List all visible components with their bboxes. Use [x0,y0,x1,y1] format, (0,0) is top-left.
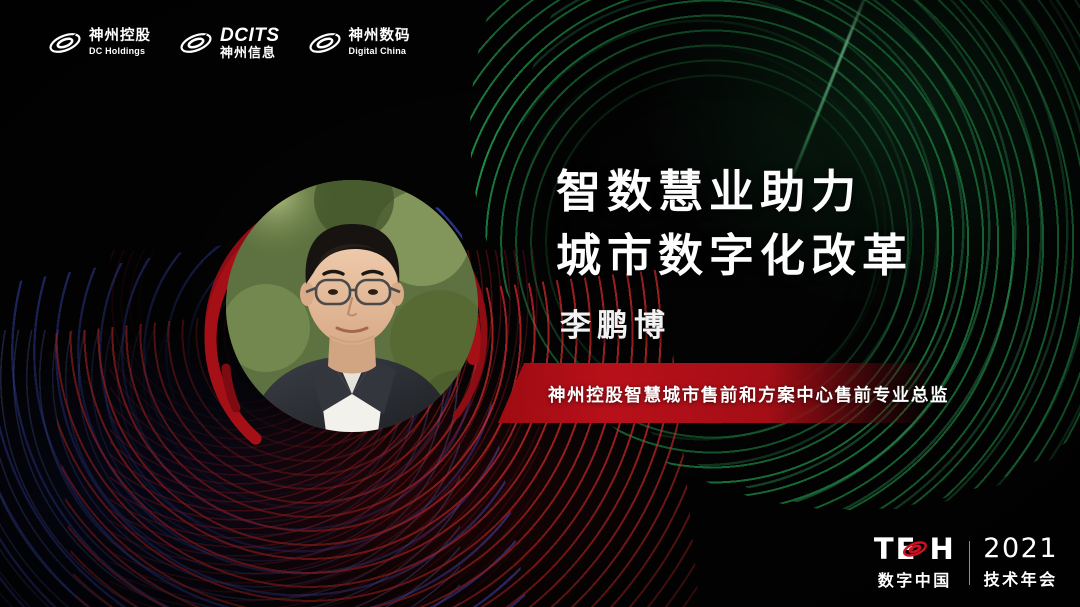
logo-dcits: DCITS 神州信息 [179,26,280,60]
tech-subtitle: 数字中国 [874,567,956,591]
event-year: 2021 [983,535,1058,562]
title-line-2: 城市数字化改革 [556,224,913,288]
swirl-icon [179,29,213,57]
speaker-name: 李鹏博 [560,300,671,345]
headshot-illustration [226,180,478,432]
event-logo-divider [969,541,971,585]
logo-label-cn: 神州信息 [220,46,280,60]
logo-label-cn: 神州数码 [349,29,411,44]
speaker-photo [226,180,478,432]
presentation-title: 智数慧业助力 城市数字化改革 [556,160,913,288]
event-logo-tech: TE H 数字中国 [874,534,956,591]
swirl-c-icon [902,538,928,560]
logo-label-en: Digital China [349,47,411,56]
logo-dc-holdings: 神州控股 DC Holdings [48,29,151,57]
logo-label-cn: 神州控股 [89,29,151,44]
title-line-1: 智数慧业助力 [556,160,913,224]
event-conference-label: 技术年会 [983,566,1058,590]
slide-background [0,0,1080,607]
event-logo: TE H 数字中国 2021 技术年会 [874,534,1058,591]
speaker-role-text: 神州控股智慧城市售前和方案中心售前专业总监 [548,382,949,407]
vignette-overlay [0,0,1080,607]
swirl-icon [308,29,342,57]
swirl-icon [48,29,82,57]
logo-label-en: DC Holdings [89,47,151,56]
logo-label-en: DCITS [220,26,280,46]
logo-bar: 神州控股 DC Holdings DCITS 神州信息 神州数码 Digital… [48,26,411,60]
logo-digital-china: 神州数码 Digital China [308,29,411,57]
event-logo-year-block: 2021 技术年会 [983,535,1058,590]
speaker-portrait [178,132,518,477]
